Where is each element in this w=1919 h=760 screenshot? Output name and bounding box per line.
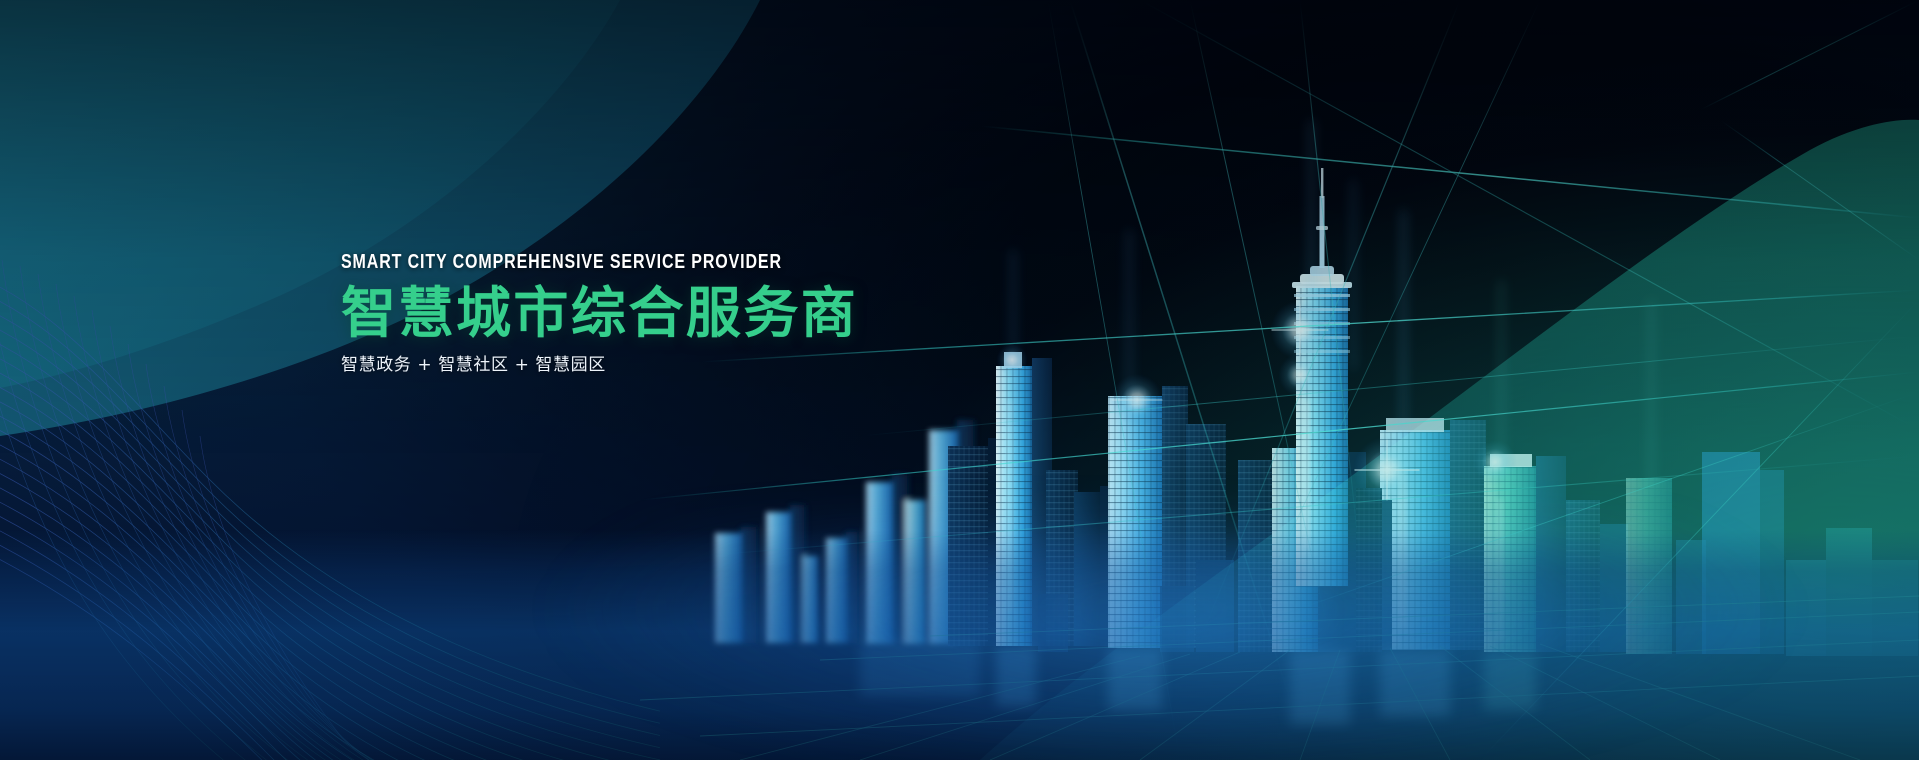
hero-subline-chinese: 智慧政务 + 智慧社区 + 智慧园区 xyxy=(341,357,981,374)
hero-copy-block: SMART CITY COMPREHENSIVE SERVICE PROVIDE… xyxy=(341,252,981,374)
hero-headline-chinese: 智慧城市综合服务商 xyxy=(341,285,981,341)
ground-glow xyxy=(499,520,1842,760)
hero-eyebrow-english: SMART CITY COMPREHENSIVE SERVICE PROVIDE… xyxy=(341,252,853,272)
smart-city-hero-banner: SMART CITY COMPREHENSIVE SERVICE PROVIDE… xyxy=(0,0,1919,760)
